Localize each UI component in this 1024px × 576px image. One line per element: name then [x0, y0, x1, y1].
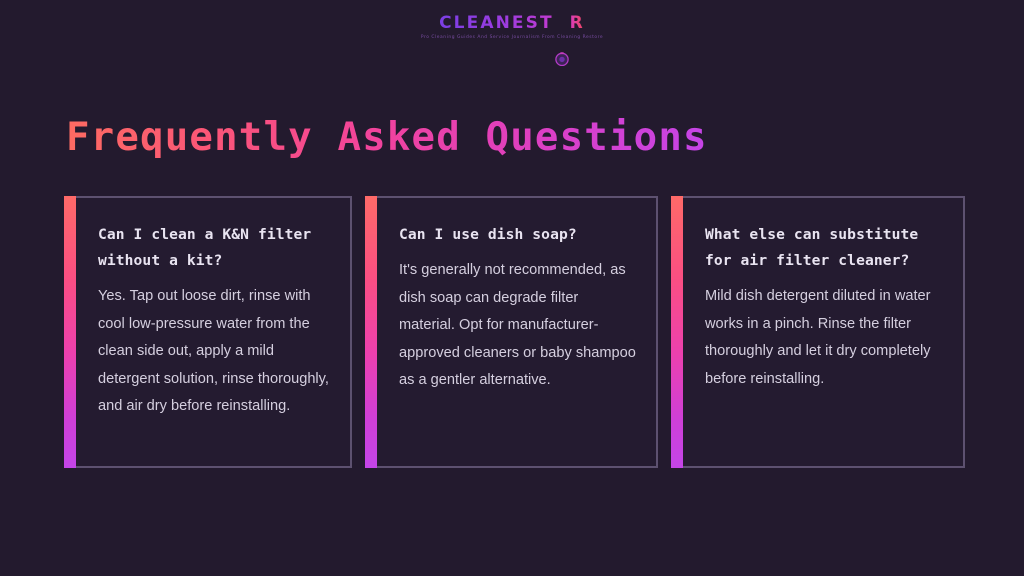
faq-card: Can I clean a K&N filter without a kit? … — [64, 196, 352, 468]
brand-header: CLEANEST R Pro Cleaning Guides And Servi… — [0, 14, 1024, 48]
faq-answer: Yes. Tap out loose dirt, rinse with cool… — [98, 283, 332, 421]
faq-accent-bar — [64, 196, 76, 468]
brand-wordmark-part2: R — [570, 14, 585, 32]
faq-card-row: Can I clean a K&N filter without a kit? … — [64, 196, 958, 468]
faq-question: What else can substitute for air filter … — [705, 222, 945, 274]
faq-question: Can I clean a K&N filter without a kit? — [98, 222, 332, 274]
faq-accent-bar — [365, 196, 377, 468]
brand-wordmark-part1: CLEANEST — [439, 14, 554, 32]
faq-answer: It's generally not recommended, as dish … — [399, 257, 638, 395]
faq-card: What else can substitute for air filter … — [671, 196, 965, 468]
faq-accent-bar — [671, 196, 683, 468]
faq-question: Can I use dish soap? — [399, 222, 638, 248]
brand-wordmark: CLEANEST R — [439, 14, 585, 32]
brand-tagline: Pro Cleaning Guides And Service Journali… — [421, 35, 603, 40]
circular-emblem-icon — [555, 16, 569, 30]
page-title: Frequently Asked Questions — [66, 113, 708, 163]
faq-card: Can I use dish soap? It's generally not … — [365, 196, 658, 468]
faq-answer: Mild dish detergent diluted in water wor… — [705, 283, 945, 393]
faq-slide: { "brand": { "wordmark_part1": "CLEANEST… — [0, 0, 1024, 576]
